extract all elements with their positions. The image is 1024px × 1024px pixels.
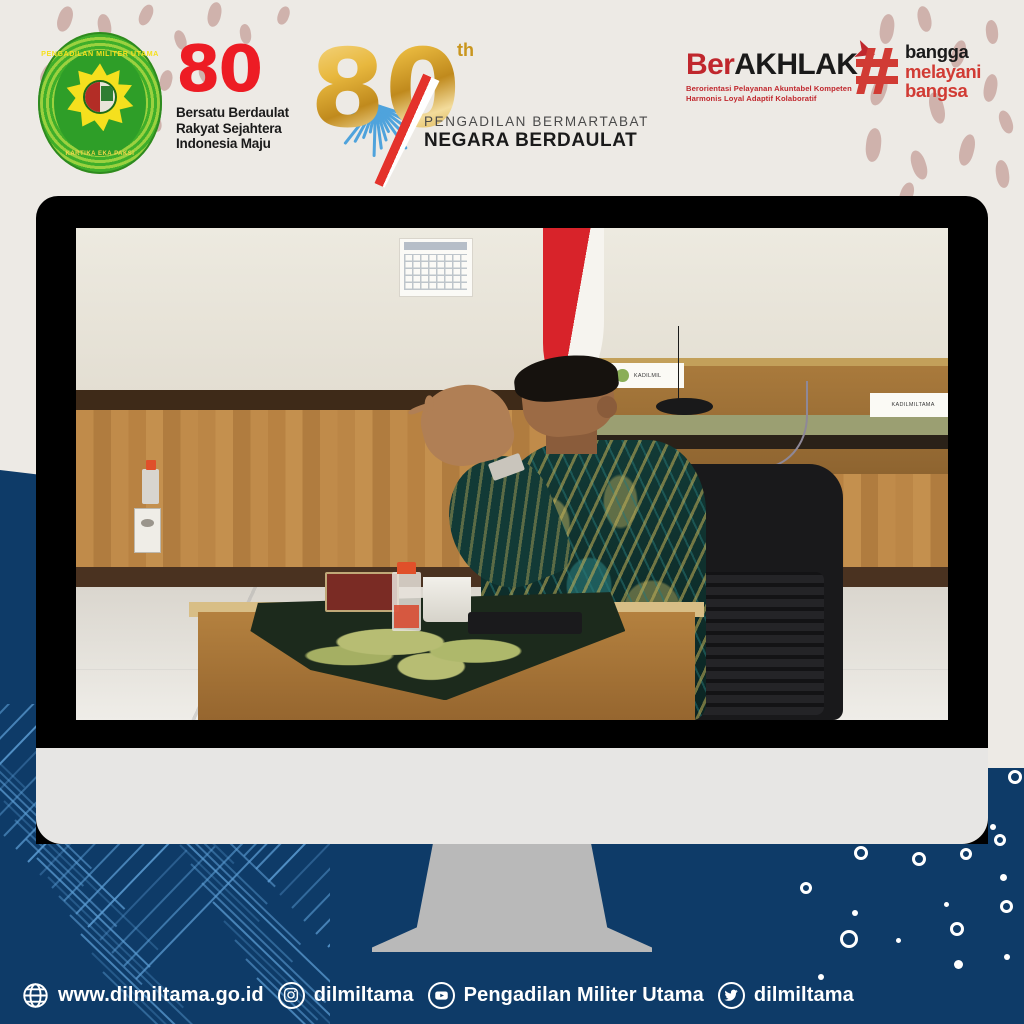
- pattern-ring: [1000, 900, 1013, 913]
- header-band: PENGADILAN MILITER UTAMA KARTIKA EKA PAK…: [0, 0, 1024, 190]
- hash-icon: [856, 48, 898, 94]
- twitter-icon: [718, 982, 745, 1009]
- globe-icon: [22, 982, 49, 1009]
- court-emblem-icon: PENGADILAN MILITER UTAMA KARTIKA EKA PAK…: [38, 32, 162, 174]
- photo-tablet-device: [468, 612, 581, 634]
- footer-label-instagram: dilmiltama: [314, 984, 414, 1007]
- berakhlak-sub-line-1: Berorientasi Pelayanan Akuntabel Kompete…: [686, 84, 857, 94]
- monitor-chin: [36, 748, 988, 844]
- logo-80-gold-superscript: th: [457, 40, 474, 61]
- pattern-dot: [896, 938, 901, 943]
- berakhlak-prefix: Ber: [686, 48, 734, 81]
- photo-background-bottle: [142, 469, 159, 503]
- pattern-ring: [912, 852, 926, 866]
- pattern-ring: [1008, 770, 1022, 784]
- instagram-icon: [278, 982, 305, 1009]
- caption-line-1: PENGADILAN BERMARTABAT: [424, 114, 649, 129]
- youtube-icon: [428, 982, 455, 1009]
- photo-red-box: [325, 572, 399, 611]
- footer-item-instagram[interactable]: dilmiltama: [278, 982, 414, 1009]
- berakhlak-logo: BerAKHLAK ➤ Berorientasi Pelayanan Akunt…: [686, 48, 857, 105]
- photo-nameplate-right: KADILMILTAMA: [870, 393, 948, 418]
- pattern-ring: [800, 882, 812, 894]
- emblem-shield-icon: [83, 80, 117, 114]
- pattern-dot: [1004, 954, 1010, 960]
- footer-item-twitter[interactable]: dilmiltama: [718, 982, 854, 1009]
- bangga-text: bangga melayani bangsa: [905, 42, 981, 101]
- pattern-line: [322, 831, 330, 980]
- berakhlak-main: AKHLAK: [734, 48, 857, 81]
- emblem-arc-top-text: PENGADILAN MILITER UTAMA: [38, 49, 162, 58]
- pattern-ring: [840, 930, 858, 948]
- pattern-dot: [944, 902, 949, 907]
- photo-water-bottle: [392, 572, 422, 631]
- berakhlak-sub-line-2: Harmonis Loyal Adaptif Kolaboratif: [686, 94, 857, 104]
- footer-label-youtube: Pengadilan Militer Utama: [464, 984, 704, 1007]
- pattern-ring: [994, 834, 1006, 846]
- pattern-ring: [854, 846, 868, 860]
- berakhlak-subtitle: Berorientasi Pelayanan Akuntabel Kompete…: [686, 84, 857, 105]
- monitor-screen: KADILMIL KADILMILTAMA: [76, 228, 948, 720]
- pattern-ring: [950, 922, 964, 936]
- poster-canvas: PENGADILAN MILITER UTAMA KARTIKA EKA PAK…: [0, 0, 1024, 1024]
- photo-drinking-glass: [423, 577, 471, 621]
- bangga-line-2: melayani: [905, 62, 981, 82]
- logo-80-red-number: 80: [176, 40, 316, 101]
- nameplate-right-label: KADILMILTAMA: [892, 402, 935, 408]
- footer-item-youtube[interactable]: Pengadilan Militer Utama: [428, 982, 704, 1009]
- bangga-line-3: bangsa: [905, 81, 981, 101]
- bermartabat-caption: PENGADILAN BERMARTABAT NEGARA BERDAULAT: [424, 114, 649, 152]
- emblem-arc-bottom-text: KARTIKA EKA PAKSI: [38, 151, 162, 157]
- pattern-dot: [990, 824, 996, 830]
- footer-label-twitter: dilmiltama: [754, 984, 854, 1007]
- footer-label-website: www.dilmiltama.go.id: [58, 984, 264, 1007]
- footer-item-website[interactable]: www.dilmiltama.go.id: [22, 982, 264, 1009]
- caption-line-2: NEGARA BERDAULAT: [424, 130, 649, 152]
- social-footer: www.dilmiltama.go.id dilmiltama Pengadil…: [0, 966, 1024, 1024]
- monitor: KADILMIL KADILMILTAMA: [36, 196, 988, 844]
- pattern-ring: [960, 848, 972, 860]
- photo-power-outlet: [134, 508, 162, 552]
- photo-calendar: [399, 238, 473, 297]
- courtroom-photo: KADILMIL KADILMILTAMA: [76, 228, 948, 720]
- pattern-line: [36, 857, 150, 968]
- pattern-dot: [852, 910, 858, 916]
- pattern-dot: [1000, 874, 1007, 881]
- bangga-melayani-bangsa-logo: bangga melayani bangsa: [856, 42, 981, 101]
- person-ear: [597, 396, 618, 418]
- berakhlak-wordmark: BerAKHLAK ➤: [686, 48, 857, 82]
- bangga-line-1: bangga: [905, 42, 981, 62]
